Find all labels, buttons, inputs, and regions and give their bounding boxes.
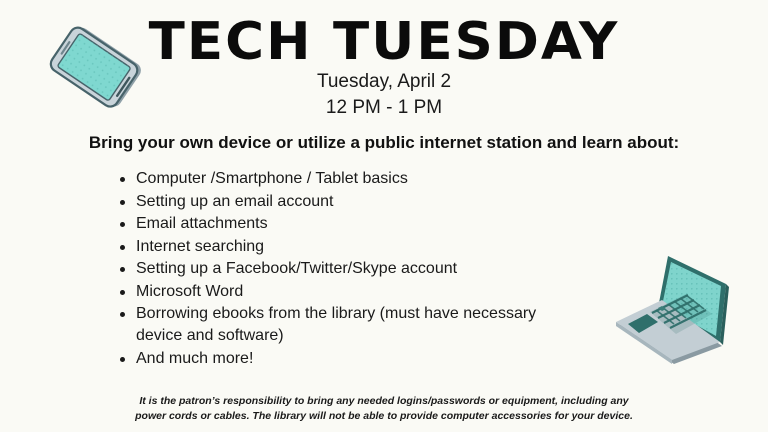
list-item: Email attachments: [120, 213, 550, 235]
list-item: Borrowing ebooks from the library (must …: [120, 303, 550, 347]
lead-in-text: Bring your own device or utilize a publi…: [0, 131, 768, 155]
event-time: 12 PM - 1 PM: [0, 96, 768, 120]
footer-line-1: It is the patron’s responsibility to bri…: [0, 394, 768, 409]
laptop-illustration: [600, 242, 744, 368]
list-item: Microsoft Word: [120, 281, 550, 303]
list-item: Computer /Smartphone / Tablet basics: [120, 168, 550, 190]
event-date: Tuesday, April 2: [0, 70, 768, 94]
poster-canvas: TECH TUESDAY Tuesday, April 2 12 PM - 1 …: [0, 0, 768, 432]
footer-disclaimer: It is the patron’s responsibility to bri…: [0, 394, 768, 424]
list-item: And much more!: [120, 348, 550, 370]
footer-line-2: power cords or cables. The library will …: [0, 409, 768, 424]
laptop-icon: [600, 242, 744, 368]
list-item: Internet searching: [120, 236, 550, 258]
topic-list: Computer /Smartphone / Tablet basics Set…: [104, 168, 550, 370]
list-item: Setting up an email account: [120, 191, 550, 213]
list-item: Setting up a Facebook/Twitter/Skype acco…: [120, 258, 550, 280]
page-title: TECH TUESDAY: [0, 14, 768, 70]
